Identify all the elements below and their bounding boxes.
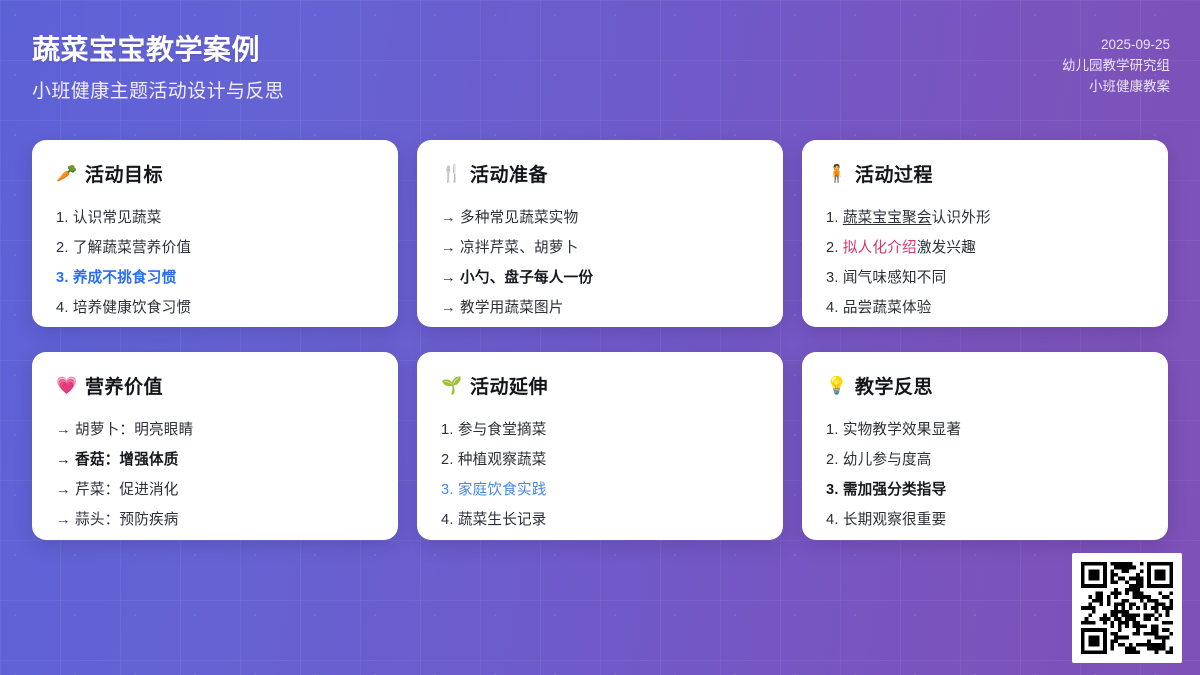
list-item: 2. 种植观察蔬菜 [441, 445, 759, 475]
fork-knife-icon: 🍴 [441, 165, 461, 182]
list-item: 3. 闻气味感知不同 [826, 263, 1144, 293]
list-item: 4. 品尝蔬菜体验 [826, 293, 1144, 323]
header-meta: 2025-09-25 幼儿园教学研究组 小班健康教案 [1062, 34, 1170, 97]
seedling-icon: 🌱 [441, 377, 461, 394]
card-list: → 多种常见蔬菜实物→ 凉拌芹菜、胡萝卜→ 小勺、盘子每人一份→ 教学用蔬菜图片 [441, 203, 759, 323]
list-item-rest: 认识外形 [932, 210, 991, 226]
card-title: 营养价值 [85, 372, 163, 399]
card-header: 🌱活动延伸 [441, 372, 759, 399]
card-title: 活动延伸 [470, 372, 548, 399]
list-item: → 蒜头：预防疾病 [56, 505, 374, 535]
list-item: → 凉拌芹菜、胡萝卜 [441, 233, 759, 263]
lightbulb-icon: 💡 [826, 377, 846, 394]
list-item: → 胡萝卜：明亮眼睛 [56, 415, 374, 445]
highlight-underline: 蔬菜宝宝聚会 [843, 210, 932, 226]
card-3: 🧍活动过程1. 蔬菜宝宝聚会认识外形2. 拟人化介绍激发兴趣3. 闻气味感知不同… [802, 140, 1168, 327]
list-item-rest: 激发兴趣 [917, 240, 976, 256]
list-item: 4. 培养健康饮食习惯 [56, 293, 374, 323]
card-header: 💡教学反思 [826, 372, 1144, 399]
child-person-icon: 🧍 [826, 165, 846, 182]
meta-category: 小班健康教案 [1062, 76, 1170, 97]
list-item: 1. 认识常见蔬菜 [56, 203, 374, 233]
card-title: 活动目标 [85, 160, 163, 187]
list-item: → 教学用蔬菜图片 [441, 293, 759, 323]
meta-org: 幼儿园教学研究组 [1062, 55, 1170, 76]
list-item: → 多种常见蔬菜实物 [441, 203, 759, 233]
page-subtitle: 小班健康主题活动设计与反思 [32, 76, 284, 103]
card-5: 🌱活动延伸1. 参与食堂摘菜2. 种植观察蔬菜3. 家庭饮食实践4. 蔬菜生长记… [417, 352, 783, 540]
card-list: 1. 认识常见蔬菜2. 了解蔬菜营养价值3. 养成不挑食习惯4. 培养健康饮食习… [56, 203, 374, 323]
highlight-pink: 拟人化介绍 [843, 240, 917, 256]
list-item: 4. 蔬菜生长记录 [441, 505, 759, 535]
list-item: 3. 家庭饮食实践 [441, 475, 759, 505]
card-title: 教学反思 [855, 372, 933, 399]
list-item: 3. 养成不挑食习惯 [56, 263, 374, 293]
card-1: 🥕活动目标1. 认识常见蔬菜2. 了解蔬菜营养价值3. 养成不挑食习惯4. 培养… [32, 140, 398, 327]
heart-pulse-icon: 💗 [56, 377, 76, 394]
list-item: 4. 长期观察很重要 [826, 505, 1144, 535]
page-title: 蔬菜宝宝教学案例 [32, 28, 260, 68]
card-list: 1. 实物教学效果显著2. 幼儿参与度高3. 需加强分类指导4. 长期观察很重要 [826, 415, 1144, 535]
carrot-icon: 🥕 [56, 165, 76, 182]
list-item: 2. 了解蔬菜营养价值 [56, 233, 374, 263]
card-list: 1. 参与食堂摘菜2. 种植观察蔬菜3. 家庭饮食实践4. 蔬菜生长记录 [441, 415, 759, 535]
qr-code[interactable] [1072, 553, 1182, 663]
list-item: 1. 参与食堂摘菜 [441, 415, 759, 445]
cards-grid: 🥕活动目标1. 认识常见蔬菜2. 了解蔬菜营养价值3. 养成不挑食习惯4. 培养… [32, 140, 1168, 540]
card-title: 活动过程 [855, 160, 933, 187]
list-item: → 小勺、盘子每人一份 [441, 263, 759, 293]
card-header: 🥕活动目标 [56, 160, 374, 187]
card-2: 🍴活动准备→ 多种常见蔬菜实物→ 凉拌芹菜、胡萝卜→ 小勺、盘子每人一份→ 教学… [417, 140, 783, 327]
list-item: 2. 幼儿参与度高 [826, 445, 1144, 475]
list-item: 1. 蔬菜宝宝聚会认识外形 [826, 203, 1144, 233]
page-header: 蔬菜宝宝教学案例 小班健康主题活动设计与反思 2025-09-25 幼儿园教学研… [0, 0, 1200, 120]
list-item: → 香菇：增强体质 [56, 445, 374, 475]
card-header: 🍴活动准备 [441, 160, 759, 187]
card-title: 活动准备 [470, 160, 548, 187]
qr-code-image [1081, 562, 1173, 654]
card-list: 1. 蔬菜宝宝聚会认识外形2. 拟人化介绍激发兴趣3. 闻气味感知不同4. 品尝… [826, 203, 1144, 323]
card-6: 💡教学反思1. 实物教学效果显著2. 幼儿参与度高3. 需加强分类指导4. 长期… [802, 352, 1168, 540]
card-header: 🧍活动过程 [826, 160, 1144, 187]
meta-date: 2025-09-25 [1062, 34, 1170, 55]
list-item: → 芹菜：促进消化 [56, 475, 374, 505]
list-item: 3. 需加强分类指导 [826, 475, 1144, 505]
list-item: 1. 实物教学效果显著 [826, 415, 1144, 445]
list-item: 2. 拟人化介绍激发兴趣 [826, 233, 1144, 263]
card-header: 💗营养价值 [56, 372, 374, 399]
card-4: 💗营养价值→ 胡萝卜：明亮眼睛→ 香菇：增强体质→ 芹菜：促进消化→ 蒜头：预防… [32, 352, 398, 540]
card-list: → 胡萝卜：明亮眼睛→ 香菇：增强体质→ 芹菜：促进消化→ 蒜头：预防疾病 [56, 415, 374, 535]
